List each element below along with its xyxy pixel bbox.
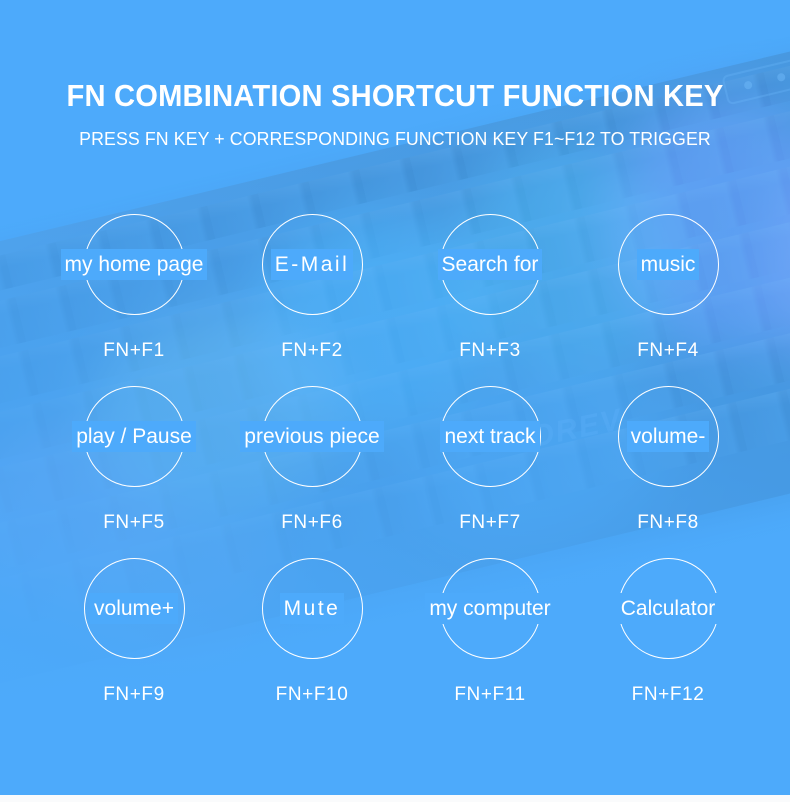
shortcut-key-combo: FN+F4 xyxy=(637,340,699,362)
shortcut-ring-wrap: E-Mail xyxy=(223,212,401,316)
page-bottom-edge xyxy=(0,795,790,802)
shortcut-grid: my home pageFN+F1E-MailFN+F2Search forFN… xyxy=(45,212,757,728)
shortcut-function-label: volume+ xyxy=(90,593,178,624)
heading-block: FN COMBINATION SHORTCUT FUNCTION KEY PRE… xyxy=(0,78,790,150)
shortcut-function-label: my computer xyxy=(425,593,554,624)
shortcut-function-label: my home page xyxy=(61,249,208,280)
shortcut-function-label: play / Pause xyxy=(72,421,196,452)
shortcut-item[interactable]: MuteFN+F10 xyxy=(223,556,401,728)
shortcut-key-combo: FN+F11 xyxy=(454,684,525,706)
shortcut-key-combo: FN+F2 xyxy=(281,340,343,362)
shortcut-key-combo: FN+F7 xyxy=(459,512,521,534)
shortcut-key-combo: FN+F3 xyxy=(459,340,521,362)
shortcut-ring-wrap: my computer xyxy=(401,556,579,660)
page-subtitle: PRESS FN KEY + CORRESPONDING FUNCTION KE… xyxy=(16,128,774,150)
shortcut-item[interactable]: volume+FN+F9 xyxy=(45,556,223,728)
shortcut-function-label: Search for xyxy=(438,249,543,280)
shortcut-item[interactable]: my computerFN+F11 xyxy=(401,556,579,728)
shortcut-item[interactable]: previous pieceFN+F6 xyxy=(223,384,401,556)
shortcut-function-label: E-Mail xyxy=(271,249,354,280)
shortcut-ring-wrap: next track xyxy=(401,384,579,488)
shortcut-ring-wrap: previous piece xyxy=(223,384,401,488)
shortcut-key-combo: FN+F12 xyxy=(632,684,705,706)
shortcut-ring-wrap: volume+ xyxy=(45,556,223,660)
shortcut-key-combo: FN+F8 xyxy=(637,512,699,534)
shortcut-ring-wrap: my home page xyxy=(45,212,223,316)
shortcut-item[interactable]: musicFN+F4 xyxy=(579,212,757,384)
shortcut-item[interactable]: next trackFN+F7 xyxy=(401,384,579,556)
shortcut-ring-wrap: play / Pause xyxy=(45,384,223,488)
shortcut-item[interactable]: Search forFN+F3 xyxy=(401,212,579,384)
shortcut-key-combo: FN+F10 xyxy=(276,684,349,706)
shortcut-function-label: Mute xyxy=(280,593,345,624)
shortcut-item[interactable]: CalculatorFN+F12 xyxy=(579,556,757,728)
shortcut-ring-wrap: volume- xyxy=(579,384,757,488)
shortcut-function-label: volume- xyxy=(627,421,710,452)
shortcut-function-label: next track xyxy=(440,421,539,452)
shortcut-ring-wrap: Calculator xyxy=(579,556,757,660)
shortcut-function-label: music xyxy=(637,249,700,280)
shortcut-item[interactable]: volume-FN+F8 xyxy=(579,384,757,556)
shortcut-function-label: Calculator xyxy=(617,593,720,624)
shortcut-item[interactable]: E-MailFN+F2 xyxy=(223,212,401,384)
shortcut-ring-wrap: music xyxy=(579,212,757,316)
shortcut-key-combo: FN+F9 xyxy=(103,684,165,706)
shortcut-ring-wrap: Search for xyxy=(401,212,579,316)
shortcut-key-combo: FN+F5 xyxy=(103,512,165,534)
shortcut-ring-wrap: Mute xyxy=(223,556,401,660)
shortcut-item[interactable]: play / PauseFN+F5 xyxy=(45,384,223,556)
shortcut-item[interactable]: my home pageFN+F1 xyxy=(45,212,223,384)
page-title: FN COMBINATION SHORTCUT FUNCTION KEY xyxy=(24,78,767,114)
shortcut-key-combo: FN+F1 xyxy=(103,340,165,362)
shortcut-function-label: previous piece xyxy=(240,421,383,452)
shortcut-key-combo: FN+F6 xyxy=(281,512,343,534)
fn-shortcut-poster: FOREV FN COMBINATION SHORTCUT FUNCTION K… xyxy=(0,0,790,802)
